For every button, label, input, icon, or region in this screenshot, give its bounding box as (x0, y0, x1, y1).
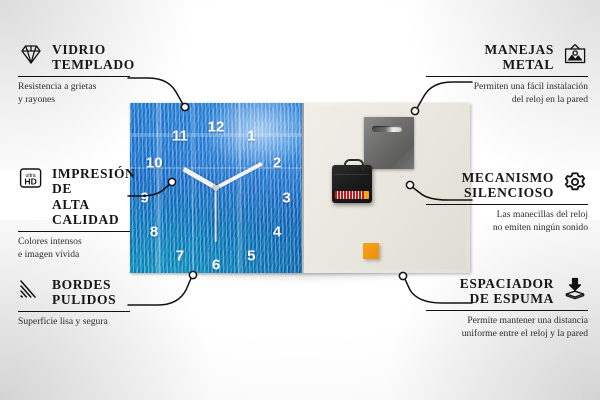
clock-second-hand (215, 188, 217, 242)
movement-hanger-loop (344, 159, 364, 170)
callout-title-line-1: IMPRESIÓN DE (52, 166, 135, 197)
callout-description-line-2: no emiten ningún sonido (426, 222, 588, 235)
callout-title-line-2: PULIDOS (52, 292, 116, 307)
callout-header: MECANISMO SILENCIOSO (426, 170, 588, 201)
callout-rule (426, 204, 588, 206)
infographic-canvas: 12 1 2 3 4 5 6 7 8 9 10 11 (0, 0, 600, 400)
clock-numeral-2: 2 (273, 155, 281, 170)
callout-title-line-1: MANEJAS (485, 42, 554, 57)
callout-vidrio-templado: VIDRIO TEMPLADO Resistencia a grietas y … (18, 42, 130, 107)
callout-impresion-alta-calidad: ultra HD IMPRESIÓN DE ALTA CALIDAD Color… (18, 166, 130, 261)
callout-description-line-2: del reloj en la pared (426, 94, 588, 107)
callout-bordes-pulidos: BORDES PULIDOS Superficie lisa y segura (18, 277, 130, 329)
callout-description: Superficie lisa y segura (18, 316, 130, 329)
clock-face-front: 12 1 2 3 4 5 6 7 8 9 10 11 (130, 103, 302, 273)
callout-rule (18, 311, 130, 313)
product-image: 12 1 2 3 4 5 6 7 8 9 10 11 (130, 103, 470, 273)
clock-hand-cap (213, 185, 219, 191)
callout-rule (426, 76, 588, 78)
callout-description: Resistencia a grietas y rayones (18, 81, 130, 106)
callout-description-line-1: Colores intensos (18, 236, 130, 249)
callout-description-line-2: y rayones (18, 94, 130, 107)
callout-espaciador-espuma: ESPACIADOR DE ESPUMA Permite mantener un… (426, 276, 588, 341)
callout-header: BORDES PULIDOS (18, 277, 130, 308)
clock-numeral-5: 5 (247, 249, 255, 264)
battery-terminal (364, 191, 369, 199)
clock-numeral-12: 12 (208, 119, 225, 134)
artwork-grid-line (192, 103, 194, 273)
polished-edge-icon (18, 277, 44, 301)
hanger-keyhole-slot (372, 126, 402, 132)
callout-mecanismo-silencioso: MECANISMO SILENCIOSO Las manecillas del … (426, 170, 588, 235)
ultra-hd-icon: ultra HD (18, 166, 44, 190)
callout-description: Colores intensos e imagen vívida (18, 236, 130, 261)
movement-seam (335, 174, 369, 175)
clock-numeral-11: 11 (172, 129, 188, 144)
callout-header: ESPACIADOR DE ESPUMA (426, 276, 588, 307)
callout-description-line-1: Resistencia a grietas (18, 81, 130, 94)
callout-title-line-2: SILENCIOSO (462, 185, 554, 200)
callout-title-line-2: ALTA CALIDAD (52, 197, 135, 228)
callout-header: VIDRIO TEMPLADO (18, 42, 130, 73)
callout-description-line-1: Permite mantener una distancia (426, 315, 588, 328)
gear-icon (562, 170, 588, 194)
clock-numeral-4: 4 (273, 225, 281, 240)
callout-title-line-1: VIDRIO (52, 42, 135, 57)
battery-label (335, 191, 365, 199)
callout-description-line-1: Permiten una fácil instalación (426, 81, 588, 94)
callout-description-line-2: e imagen vívida (18, 249, 130, 262)
picture-frame-icon (562, 42, 588, 66)
clock-numeral-10: 10 (146, 155, 163, 170)
clock-numeral-8: 8 (150, 225, 158, 240)
callout-title-line-2: DE ESPUMA (460, 291, 554, 306)
foam-spacer-icon (562, 276, 588, 300)
foam-spacer-block (363, 243, 379, 259)
callout-description-line-1: Superficie lisa y segura (18, 316, 130, 329)
callout-header: MANEJAS METAL (426, 42, 588, 73)
quartz-movement-box (332, 165, 372, 203)
callout-manejas-metal: MANEJAS METAL Permiten una fácil instala… (426, 42, 588, 107)
callout-description-line-2: uniforme entre el reloj y la pared (426, 328, 588, 341)
callout-title-line-1: BORDES (52, 277, 116, 292)
callout-title-line-2: TEMPLADO (52, 57, 135, 72)
callout-description: Permiten una fácil instalación del reloj… (426, 81, 588, 106)
callout-title-line-2: METAL (485, 57, 554, 72)
panel-edge-seam (302, 103, 304, 273)
clock-numeral-6: 6 (212, 258, 220, 273)
connector-line-vidrio-templado (128, 78, 184, 106)
diamond-icon (18, 42, 44, 66)
metal-hanger-plate (364, 117, 414, 169)
callout-description-line-1: Las manecillas del reloj (426, 209, 588, 222)
clock-numeral-3: 3 (282, 191, 290, 206)
callout-rule (426, 310, 588, 312)
callout-title-line-1: ESPACIADOR (460, 276, 554, 291)
callout-title-line-1: MECANISMO (462, 170, 554, 185)
svg-text:HD: HD (24, 177, 36, 187)
clock-numeral-7: 7 (176, 249, 184, 264)
clock-numeral-1: 1 (247, 129, 255, 144)
artwork-grid-line (156, 103, 161, 273)
callout-header: ultra HD IMPRESIÓN DE ALTA CALIDAD (18, 166, 130, 228)
callout-rule (18, 231, 130, 233)
callout-rule (18, 76, 130, 78)
clock-numeral-9: 9 (140, 191, 148, 206)
callout-description: Las manecillas del reloj no emiten ningú… (426, 209, 588, 234)
callout-description: Permite mantener una distancia uniforme … (426, 315, 588, 340)
